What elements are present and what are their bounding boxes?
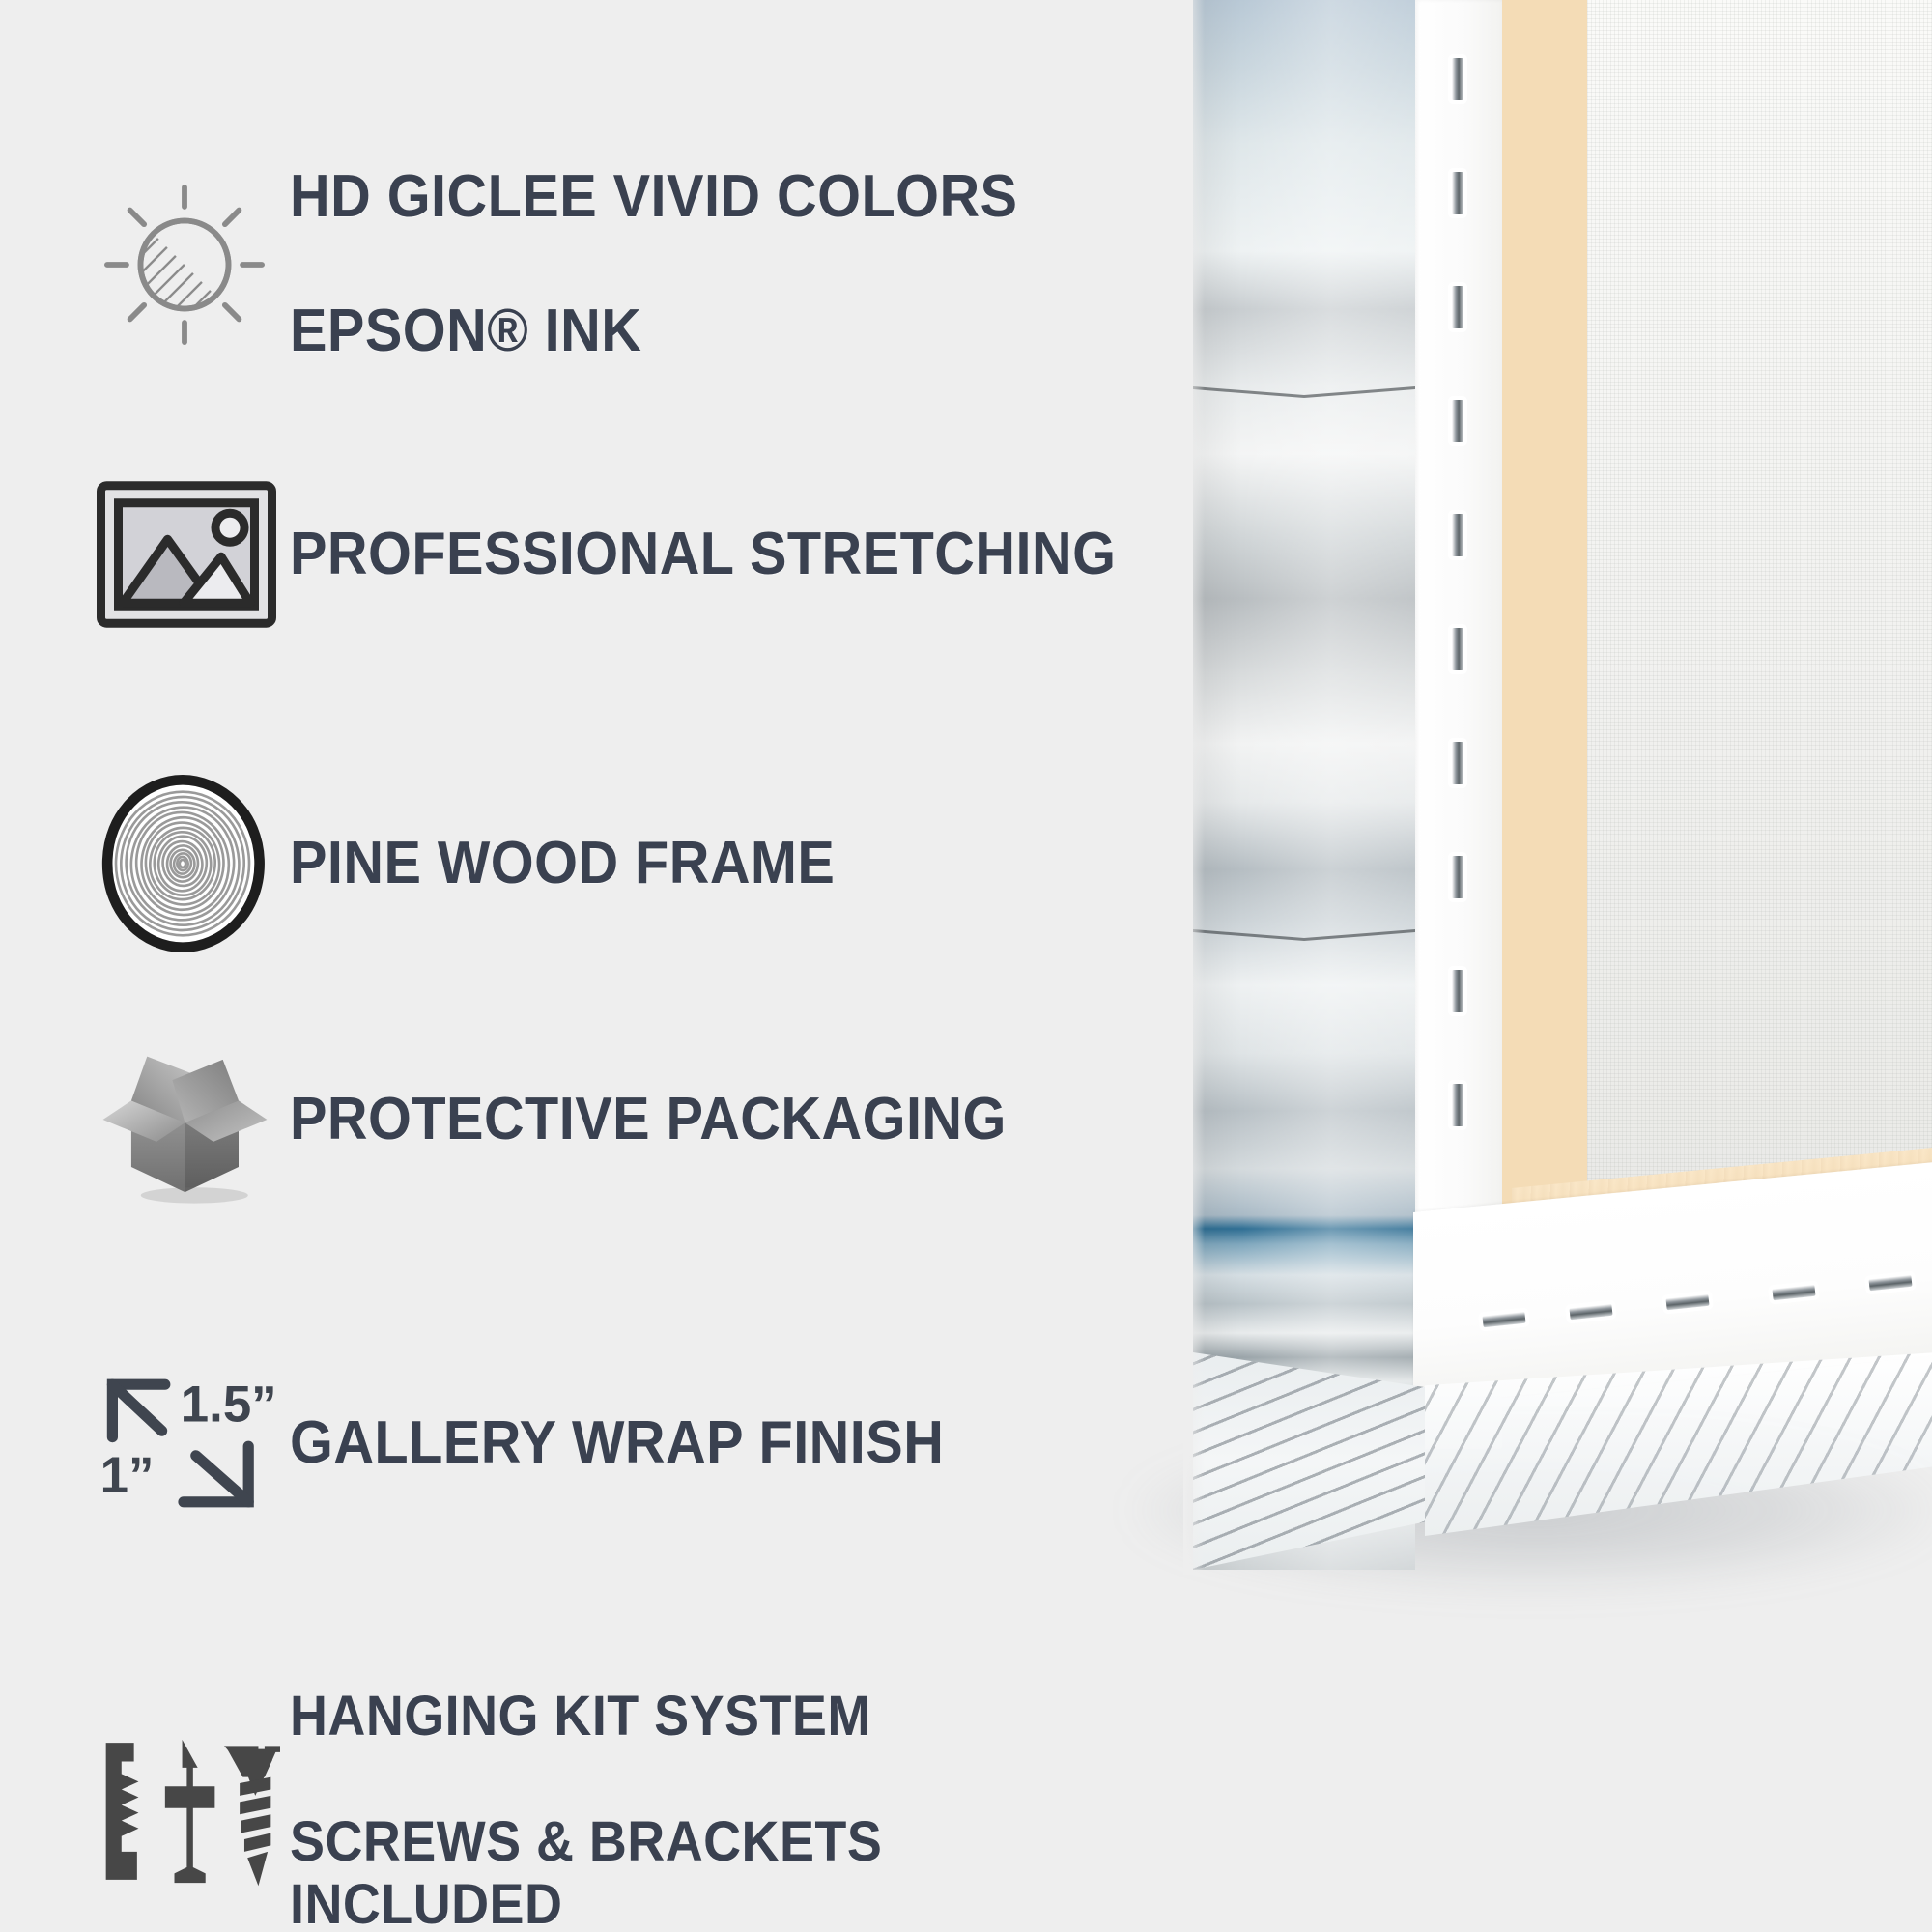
open-box-icon-wrapper bbox=[97, 1028, 290, 1211]
feature-label-hanging: HANGING KIT SYSTEM SCREWS & BRACKETS INC… bbox=[290, 1623, 1134, 1932]
staple bbox=[1452, 856, 1463, 898]
open-box-icon bbox=[97, 1028, 286, 1211]
staple bbox=[1452, 514, 1463, 556]
feature-label-wrap-line1: GALLERY WRAP FINISH bbox=[290, 1409, 944, 1476]
feature-label-giclee-line2: EPSON® INK bbox=[290, 298, 1017, 364]
staple bbox=[1452, 1084, 1463, 1126]
sun-icon-wrapper bbox=[97, 177, 290, 353]
depth-top-label: 1.5” bbox=[181, 1377, 277, 1434]
product-photo bbox=[1193, 0, 1932, 1570]
infographic-root: HD GICLEE VIVID COLORS EPSON® INK PROFES… bbox=[0, 0, 1932, 1932]
staple bbox=[1452, 58, 1463, 100]
staple bbox=[1452, 286, 1463, 328]
feature-item-stretching: PROFESSIONAL STRETCHING bbox=[97, 454, 1179, 655]
feature-label-packaging: PROTECTIVE PACKAGING bbox=[290, 1019, 1007, 1220]
feature-label-giclee: HD GICLEE VIVID COLORS EPSON® INK bbox=[290, 97, 1017, 432]
feature-item-pine: PINE WOOD FRAME bbox=[97, 763, 876, 964]
gallery-wrap-depth-icon-wrapper: 1.5” 1” bbox=[97, 1366, 290, 1520]
gallery-wrap-depth-icon: 1.5” 1” bbox=[97, 1366, 286, 1520]
sun-icon bbox=[97, 177, 272, 353]
feature-label-hanging-line2: SCREWS & BRACKETS INCLUDED bbox=[290, 1811, 1134, 1932]
feature-label-stretching-line1: PROFESSIONAL STRETCHING bbox=[290, 521, 1116, 587]
canvas-printed-edge bbox=[1193, 0, 1415, 1570]
feature-label-packaging-line1: PROTECTIVE PACKAGING bbox=[290, 1086, 1007, 1152]
feature-label-pine-line1: PINE WOOD FRAME bbox=[290, 830, 835, 896]
hardware-icon-wrapper bbox=[97, 1730, 290, 1892]
staple bbox=[1452, 172, 1463, 214]
feature-label-stretching: PROFESSIONAL STRETCHING bbox=[290, 454, 1116, 655]
picture-frame-icon-wrapper bbox=[97, 481, 290, 628]
staple bbox=[1452, 628, 1463, 670]
feature-item-giclee: HD GICLEE VIVID COLORS EPSON® INK bbox=[97, 97, 1072, 432]
staple bbox=[1452, 742, 1463, 784]
feature-label-pine: PINE WOOD FRAME bbox=[290, 763, 835, 964]
tree-rings-icon-wrapper bbox=[97, 775, 290, 952]
staple bbox=[1452, 400, 1463, 442]
feature-item-wrap: 1.5” 1” GALLERY WRAP FINISH bbox=[97, 1343, 993, 1544]
feature-item-packaging: PROTECTIVE PACKAGING bbox=[97, 1019, 1061, 1220]
feature-label-hanging-line1: HANGING KIT SYSTEM bbox=[290, 1686, 1134, 1748]
canvas-backing-fabric bbox=[1587, 0, 1932, 1256]
picture-frame-icon bbox=[97, 481, 276, 628]
tree-rings-icon bbox=[97, 775, 269, 952]
feature-label-wrap: GALLERY WRAP FINISH bbox=[290, 1343, 944, 1544]
staple bbox=[1452, 970, 1463, 1012]
pine-stretcher-bar-vertical bbox=[1502, 0, 1589, 1333]
feature-label-giclee-line1: HD GICLEE VIVID COLORS bbox=[290, 163, 1017, 230]
hardware-icon bbox=[97, 1730, 280, 1892]
feature-item-hanging: HANGING KIT SYSTEM SCREWS & BRACKETS INC… bbox=[97, 1623, 1198, 1932]
depth-bottom-label: 1” bbox=[100, 1447, 155, 1504]
feature-list: HD GICLEE VIVID COLORS EPSON® INK PROFES… bbox=[0, 0, 1198, 1932]
